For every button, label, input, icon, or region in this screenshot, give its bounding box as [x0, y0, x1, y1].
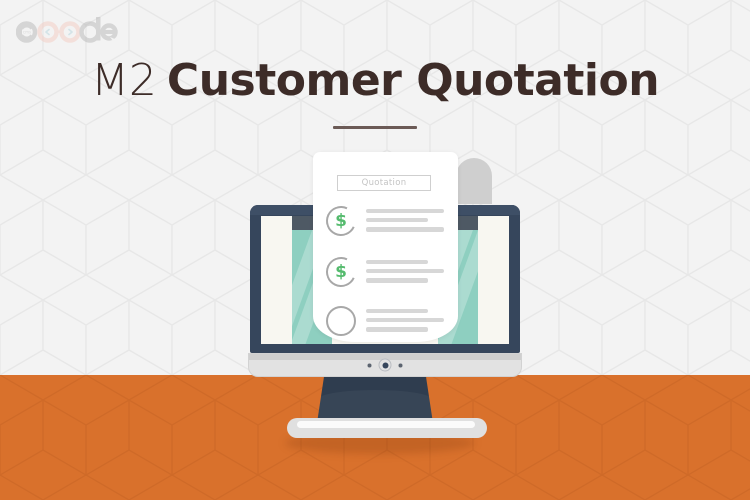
dollar-circle-icon: $ [322, 202, 360, 240]
monitor-small-button-right[interactable] [399, 363, 403, 367]
poster-canvas: cms M2Customer Quotation [0, 0, 750, 500]
monitor-bottom-bezel [248, 353, 522, 377]
quotation-row-lines [366, 209, 444, 237]
dollar-glyph: $ [335, 264, 347, 281]
document-title-box: Quotation [337, 175, 431, 191]
quotation-row-lines [366, 309, 444, 337]
quotation-document: Quotation $ $ [313, 152, 458, 342]
hero-illustration: Quotation $ $ [0, 0, 750, 500]
document-title-label: Quotation [362, 178, 407, 188]
quotation-row: $ [326, 255, 446, 299]
dollar-circle-icon: $ [322, 253, 360, 291]
document-back-tab [456, 158, 492, 204]
monitor-buttons [368, 359, 403, 372]
dollar-glyph: $ [335, 213, 347, 230]
quotation-row [326, 304, 446, 348]
monitor-base-highlight [297, 421, 475, 428]
empty-circle-icon [326, 306, 356, 336]
quotation-row-lines [366, 260, 444, 288]
monitor-power-button[interactable] [379, 359, 392, 372]
monitor-small-button-left[interactable] [368, 363, 372, 367]
quotation-row: $ [326, 204, 446, 248]
